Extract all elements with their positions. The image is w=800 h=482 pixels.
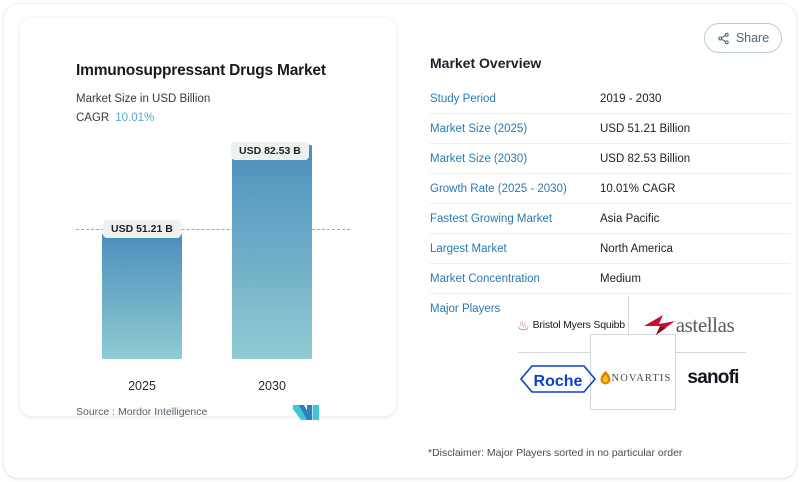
roche-hexagon-icon: Roche — [519, 362, 597, 396]
major-players-logos: ♨ Bristol Myers Squibb astellas Roche NO… — [518, 296, 746, 408]
logo-astellas[interactable]: astellas — [630, 308, 746, 342]
table-row: Market Size (2030) USD 82.53 Billion — [430, 144, 790, 174]
table-row: Largest Market North America — [430, 234, 790, 264]
row-value: USD 82.53 Billion — [600, 153, 690, 165]
bar-chart-plot: USD 51.21 B USD 82.53 B 2025 2030 — [20, 18, 396, 416]
row-key: Fastest Growing Market — [430, 213, 600, 225]
bar-value-label-2030: USD 82.53 B — [231, 142, 309, 160]
logo-roche[interactable]: Roche — [518, 358, 598, 400]
row-value: Asia Pacific — [600, 213, 659, 225]
page-card: Share Immunosuppressant Drugs Market Mar… — [4, 4, 796, 478]
bristol-myers-squibb-mark: ♨ — [517, 318, 530, 332]
share-button[interactable]: Share — [704, 23, 782, 53]
row-key: Largest Market — [430, 243, 600, 255]
bar-2025[interactable] — [102, 234, 182, 359]
logo-bristol-myers-squibb[interactable]: ♨ Bristol Myers Squibb — [512, 312, 630, 338]
table-row: Growth Rate (2025 - 2030) 10.01% CAGR — [430, 174, 790, 204]
share-button-label: Share — [736, 31, 769, 45]
chart-source: Source : Mordor Intelligence — [76, 406, 207, 418]
market-overview-table: Study Period 2019 - 2030 Market Size (20… — [430, 84, 790, 324]
x-axis-tick-2030: 2030 — [222, 379, 322, 393]
logo-label: astellas — [676, 313, 735, 338]
logo-novartis[interactable]: NOVARTIS — [594, 360, 676, 396]
row-key: Market Size (2030) — [430, 153, 600, 165]
astellas-star-icon — [642, 312, 676, 338]
x-axis-tick-2025: 2025 — [92, 379, 192, 393]
table-row: Market Size (2025) USD 51.21 Billion — [430, 114, 790, 144]
logo-sanofi[interactable]: sanofi — [676, 358, 750, 398]
logo-label: sanofi — [687, 367, 738, 389]
logo-label: NOVARTIS — [612, 373, 672, 384]
row-key: Study Period — [430, 93, 600, 105]
share-icon — [717, 32, 730, 45]
row-key: Growth Rate (2025 - 2030) — [430, 183, 600, 195]
row-value: 10.01% CAGR — [600, 183, 675, 195]
bar-value-label-2025: USD 51.21 B — [103, 220, 181, 238]
row-key: Market Concentration — [430, 273, 600, 285]
disclaimer-text: *Disclaimer: Major Players sorted in no … — [428, 447, 682, 459]
row-value: 2019 - 2030 — [600, 93, 661, 105]
table-row: Study Period 2019 - 2030 — [430, 84, 790, 114]
mordor-intelligence-logo — [292, 404, 322, 421]
logo-label: Bristol Myers Squibb — [533, 319, 625, 331]
svg-text:Roche: Roche — [534, 373, 583, 390]
table-row: Fastest Growing Market Asia Pacific — [430, 204, 790, 234]
row-key: Market Size (2025) — [430, 123, 600, 135]
row-value: USD 51.21 Billion — [600, 123, 690, 135]
market-overview-title: Market Overview — [430, 55, 541, 71]
row-value: North America — [600, 243, 673, 255]
row-value: Medium — [600, 273, 641, 285]
bar-2030[interactable] — [232, 145, 312, 359]
table-row: Market Concentration Medium — [430, 264, 790, 294]
novartis-flame-icon — [599, 370, 612, 386]
bars-container — [20, 18, 396, 359]
chart-card: Immunosuppressant Drugs Market Market Si… — [20, 18, 396, 416]
